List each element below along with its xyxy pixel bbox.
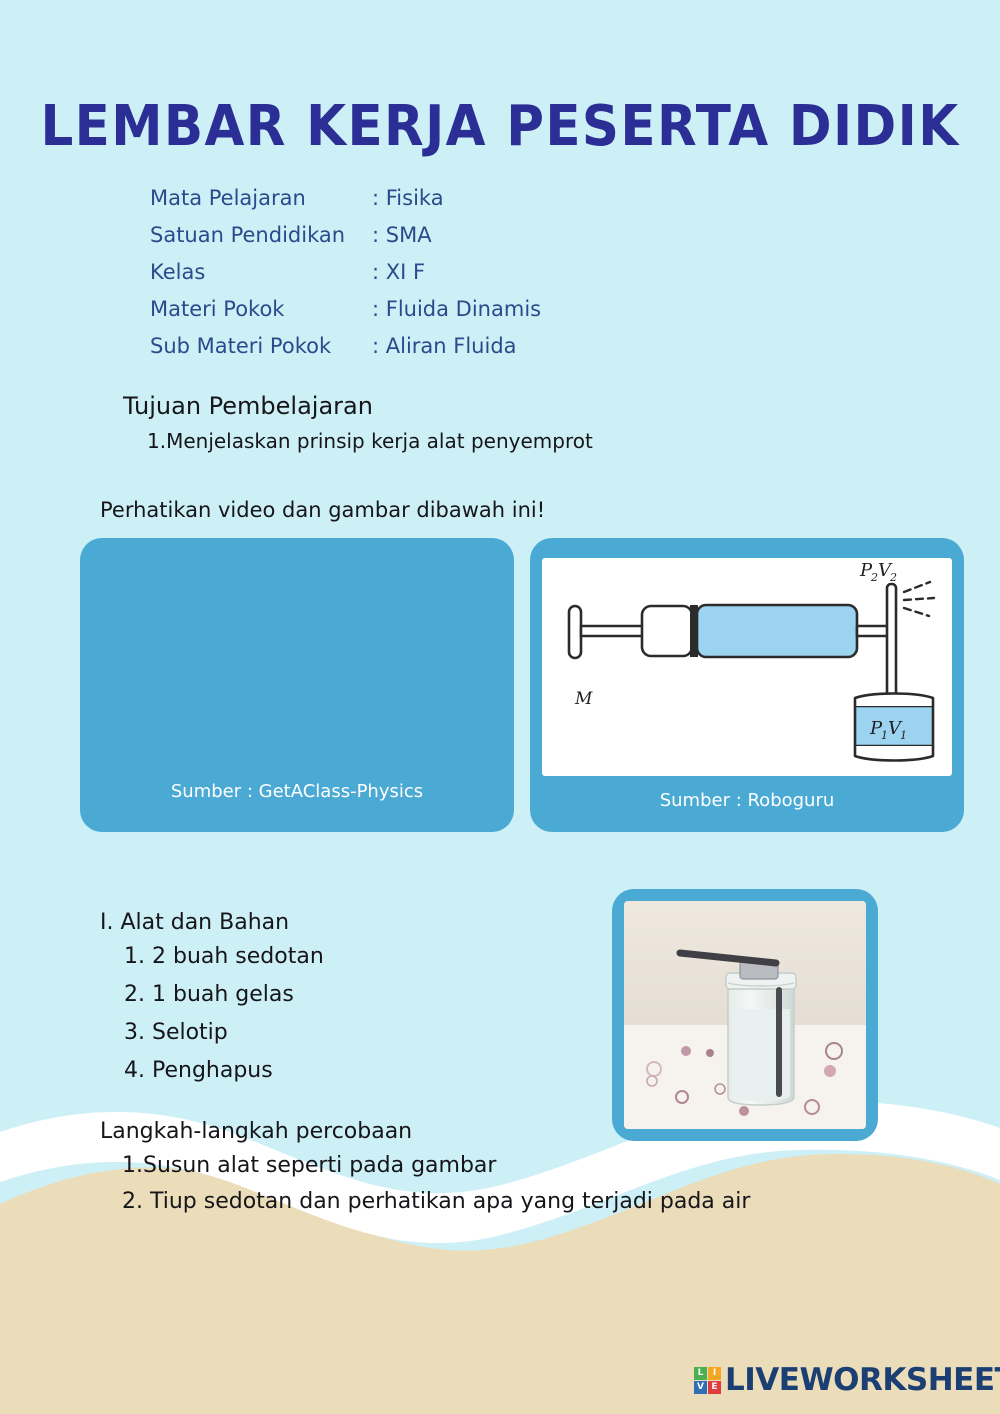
svg-text:1: 1 [900, 729, 907, 742]
objectives-heading: Tujuan Pembelajaran [123, 391, 593, 421]
meta-label: Sub Materi Pokok [150, 334, 372, 358]
logo-tile-l: L [694, 1367, 707, 1380]
experiment-photo [624, 901, 866, 1129]
svg-text:2: 2 [870, 571, 878, 584]
meta-row: Materi Pokok : Fluida Dinamis [150, 297, 541, 334]
logo-tile-e: E [708, 1381, 721, 1394]
meta-row: Satuan Pendidikan : SMA [150, 223, 541, 260]
meta-row: Kelas : XI F [150, 260, 541, 297]
sprayer-diagram: M P 2 V 2 P 1 V 1 [542, 558, 952, 776]
logo-tiles: L I V E [694, 1367, 721, 1394]
meta-value: : SMA [372, 223, 432, 247]
meta-value: : Fluida Dinamis [372, 297, 541, 321]
diagram-panel[interactable]: M P 2 V 2 P 1 V 1 Sumber : Roboguru [530, 538, 964, 832]
meta-value: : Aliran Fluida [372, 334, 517, 358]
liveworksheets-logo[interactable]: L I V E LIVEWORKSHEETS [694, 1362, 1000, 1398]
watch-instruction: Perhatikan video dan gambar dibawah ini! [100, 498, 545, 522]
syringe-chamber-icon [697, 605, 857, 657]
logo-tile-v: V [694, 1381, 707, 1394]
meta-label: Satuan Pendidikan [150, 223, 372, 247]
label-p2v2: P 2 V 2 [859, 560, 897, 584]
material-item: 3. Selotip [124, 1014, 324, 1052]
video-panel[interactable]: Sumber : GetAClass-Physics [80, 538, 514, 832]
diagram-caption: Sumber : Roboguru [530, 790, 964, 811]
nozzle-tube-icon [887, 584, 896, 700]
objectives-section: Tujuan Pembelajaran 1.Menjelaskan prinsi… [123, 391, 593, 455]
meta-label: Kelas [150, 260, 372, 284]
label-pump: M [574, 689, 593, 709]
jar-bottom-icon [855, 746, 933, 761]
steps-section: Langkah-langkah percobaan 1.Susun alat s… [100, 1116, 750, 1220]
logo-tile-i: I [708, 1367, 721, 1380]
plunger-handle-icon [569, 606, 581, 658]
page-title: LEMBAR KERJA PESERTA DIDIK [40, 96, 960, 158]
meta-value: : XI F [372, 260, 425, 284]
step-item: 1.Susun alat seperti pada gambar [122, 1148, 750, 1184]
meta-row: Mata Pelajaran : Fisika [150, 186, 541, 223]
materials-section: I. Alat dan Bahan 1. 2 buah sedotan 2. 1… [100, 908, 324, 1090]
meta-value: : Fisika [372, 186, 444, 210]
meta-label: Mata Pelajaran [150, 186, 372, 210]
svg-text:2: 2 [889, 571, 897, 584]
experiment-photo-frame[interactable] [612, 889, 878, 1141]
steps-heading: Langkah-langkah percobaan [100, 1116, 750, 1148]
meta-block: Mata Pelajaran : Fisika Satuan Pendidika… [150, 186, 541, 371]
meta-label: Materi Pokok [150, 297, 372, 321]
photo-vertical-straw [776, 987, 782, 1097]
piston-divider-icon [690, 605, 698, 657]
objective-item: 1.Menjelaskan prinsip kerja alat penyemp… [147, 427, 593, 455]
material-item: 4. Penghapus [124, 1052, 324, 1090]
material-item: 2. 1 buah gelas [124, 976, 324, 1014]
material-item: 1. 2 buah sedotan [124, 938, 324, 976]
spray-lines-icon [904, 582, 934, 616]
meta-row: Sub Materi Pokok : Aliran Fluida [150, 334, 541, 371]
materials-heading: I. Alat dan Bahan [100, 908, 324, 938]
svg-text:1: 1 [881, 729, 888, 742]
logo-wordmark: LIVEWORKSHEETS [725, 1362, 1000, 1398]
video-caption: Sumber : GetAClass-Physics [80, 781, 514, 802]
step-item: 2. Tiup sedotan dan perhatikan apa yang … [122, 1184, 750, 1220]
